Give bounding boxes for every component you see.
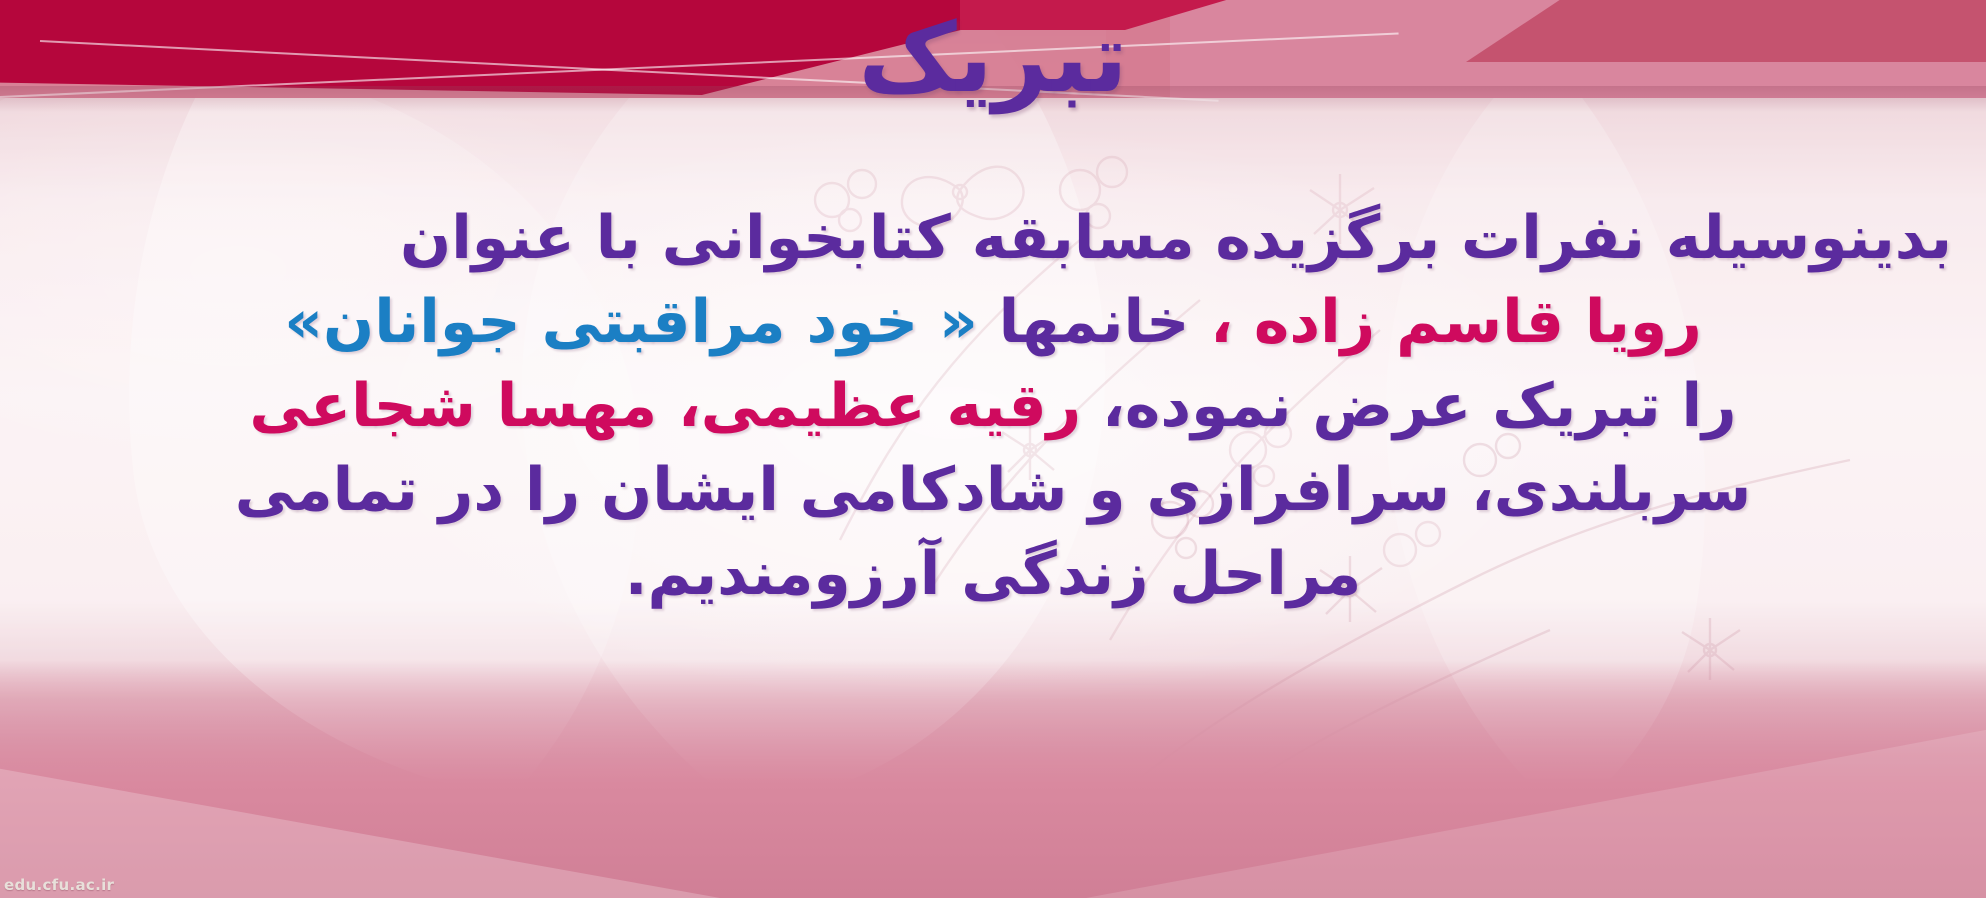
body-line-5-seg-1: مراحل زندگی آرزومندیم. [625, 539, 1362, 609]
page-title: تبریک [0, 8, 1986, 109]
announcement-body: بدینوسیله نفرات برگزیده مسابقه کتابخوانی… [34, 196, 1952, 616]
site-watermark: edu.cfu.ac.ir [4, 876, 114, 894]
body-line-1: بدینوسیله نفرات برگزیده مسابقه کتابخوانی… [34, 196, 1952, 280]
body-line-2: رویا قاسم زاده ، خانمها « خود مراقبتی جو… [34, 280, 1952, 364]
slide-canvas: تبریک بدینوسیله نفرات برگزیده مسابقه کتا… [0, 0, 1986, 898]
body-line-2-seg-2: خانمها [999, 287, 1190, 357]
body-line-2-seg-1: « خود مراقبتی جوانان» [284, 287, 978, 357]
body-line-4: سربلندی، سرافرازی و شادکامی ایشان را در … [34, 448, 1952, 532]
body-line-5: مراحل زندگی آرزومندیم. [34, 532, 1952, 616]
body-line-2-seg-3: رویا قاسم زاده ، [1210, 287, 1702, 357]
body-line-3-seg-2: را تبریک عرض نموده، [1102, 371, 1736, 441]
body-line-4-seg-1: سربلندی، سرافرازی و شادکامی ایشان را در … [235, 455, 1751, 525]
body-line-1-seg-1: بدینوسیله نفرات برگزیده مسابقه کتابخوانی… [400, 203, 1952, 273]
body-line-3-seg-1: رقیه عظیمی، مهسا شجاعی [249, 371, 1081, 441]
body-line-3: را تبریک عرض نموده، رقیه عظیمی، مهسا شجا… [34, 364, 1952, 448]
